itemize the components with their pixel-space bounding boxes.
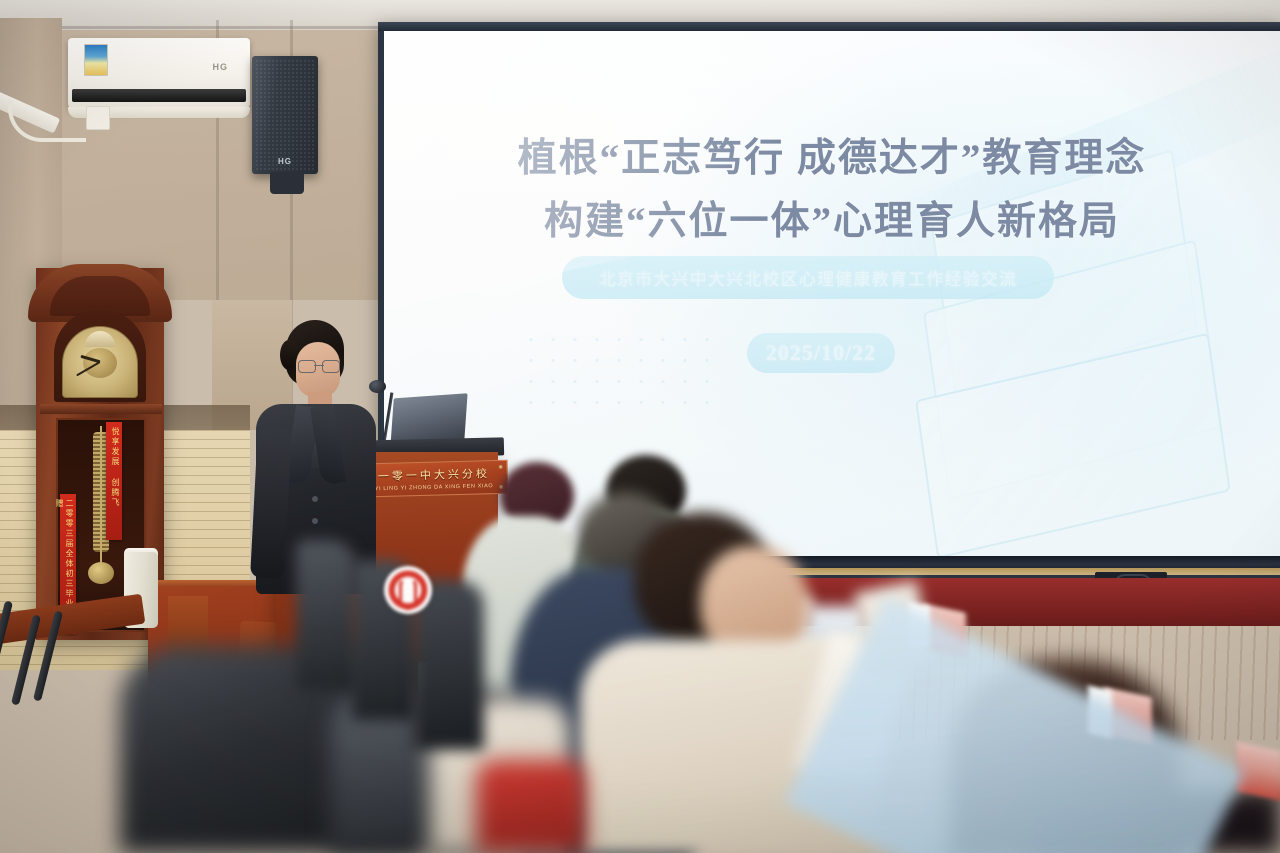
clock-dial-center — [83, 348, 117, 378]
slide-title-line-2: 构建“六位一体”心理育人新格局 — [384, 190, 1280, 253]
clock-moon-phase-icon — [85, 331, 115, 347]
glasses-icon — [298, 360, 340, 372]
wall-speaker: HG — [252, 56, 318, 174]
foreground-red-garment — [476, 760, 586, 853]
school-emblem-badge-icon — [384, 566, 432, 614]
screen-top-rail — [378, 22, 1280, 31]
chair-back-1 — [296, 540, 356, 690]
conference-room-photo: HG HG 植根“正志笃行 成德达才”教育理念 构建“六位一体”心理育人新格局 … — [0, 0, 1280, 853]
speaker-mount-bracket — [270, 172, 304, 194]
pendulum-bob — [88, 562, 114, 584]
wall-power-outlet — [86, 106, 110, 130]
speaker-brand-text: HG — [278, 157, 292, 166]
blazer-button — [312, 518, 318, 524]
slide-title-line-1: 植根“正志笃行 成德达才”教育理念 — [518, 137, 1147, 180]
slide-subtitle-pill: 北京市大兴中大兴北校区心理健康教育工作经验交流 — [562, 256, 1054, 299]
blazer-button — [312, 496, 318, 502]
slide-dot-grid-decoration — [520, 329, 710, 415]
clock-shelf-trim — [40, 404, 162, 414]
plaque-screw — [499, 465, 503, 469]
speaker-grille-mesh — [255, 59, 315, 171]
clock-dial — [62, 326, 138, 398]
clock-banner-right: 悦享发展 创腾飞 — [106, 422, 122, 540]
air-conditioner-unit: HG — [68, 38, 250, 110]
chair-seat — [0, 594, 145, 645]
pendulum-rod — [100, 426, 102, 566]
ac-vent — [72, 89, 246, 102]
energy-label-sticker — [84, 44, 108, 76]
ac-brand-text: HG — [213, 62, 229, 72]
slide-date-pill: 2025/10/22 — [747, 333, 895, 373]
slide-title-block: 植根“正志笃行 成德达才”教育理念 构建“六位一体”心理育人新格局 — [384, 127, 1280, 253]
